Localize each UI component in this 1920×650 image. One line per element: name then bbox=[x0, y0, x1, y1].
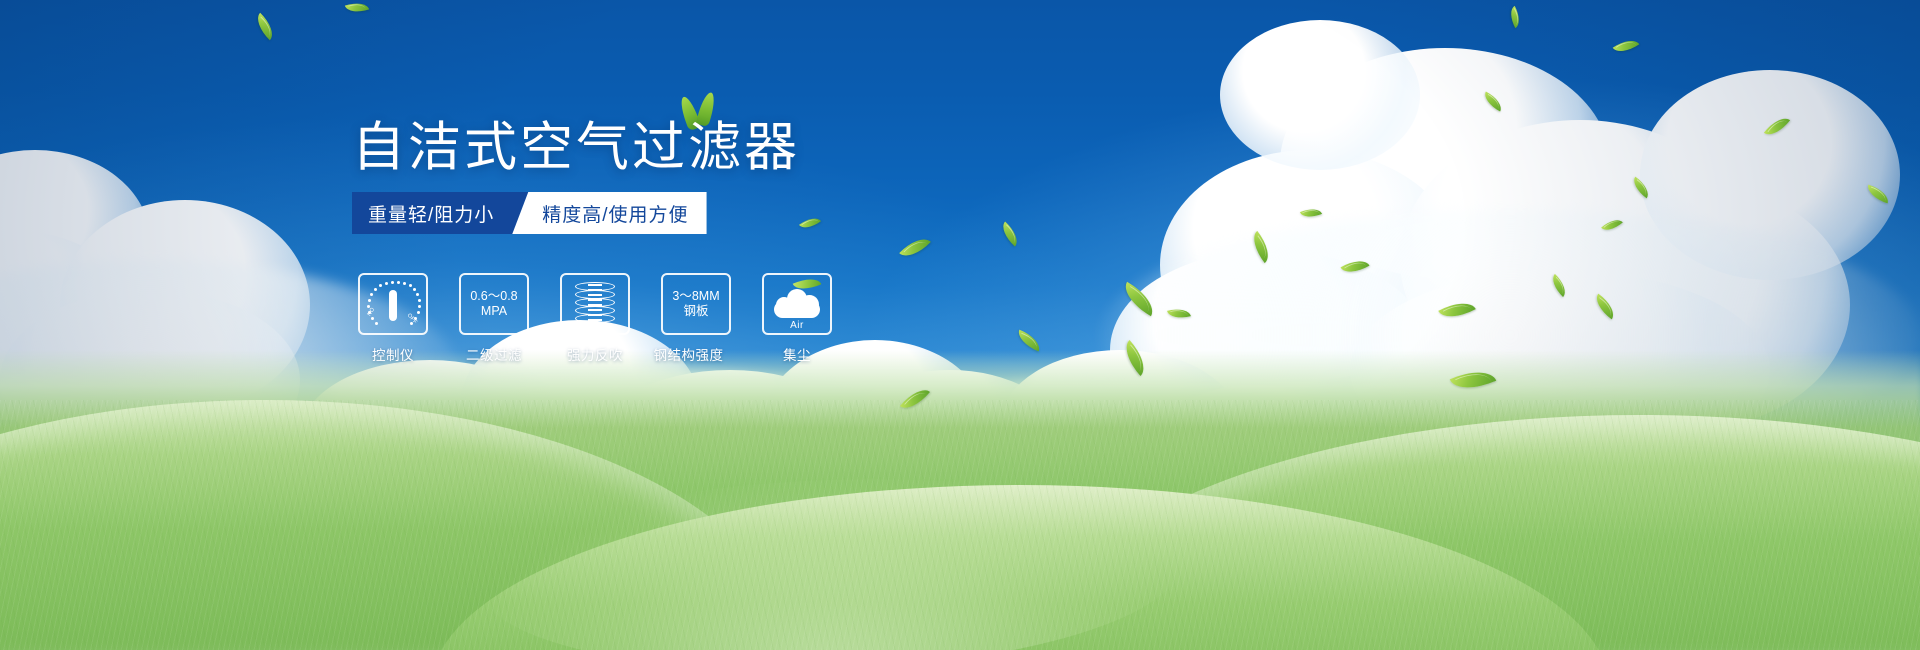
banner-content: 自洁式空气过滤器 重量轻/阻力小 精度高/使用方便 bbox=[0, 0, 1920, 650]
feature-box-dust: Air bbox=[762, 273, 832, 335]
page-title: 自洁式空气过滤器 bbox=[352, 118, 800, 177]
subtitle-pill-secondary: 精度高/使用方便 bbox=[512, 192, 706, 234]
air-cloud-icon: Air bbox=[770, 279, 824, 329]
air-cloud-base bbox=[774, 301, 820, 318]
feature-icon-row: NO OFF 控制仪 0.6～0.8 MPA 二级过滤 bbox=[358, 273, 832, 364]
feature-label-controller: 控制仪 bbox=[372, 344, 414, 364]
feature-item-blowback: 强力反吹 bbox=[560, 273, 630, 364]
coil-icon bbox=[575, 280, 615, 328]
air-cloud-label: Air bbox=[770, 320, 824, 331]
subtitle-pill-row: 重量轻/阻力小 精度高/使用方便 bbox=[352, 192, 707, 234]
feature-box-steel: 3～8MM 钢板 bbox=[661, 273, 731, 335]
subtitle-pill-primary: 重量轻/阻力小 bbox=[352, 192, 528, 234]
feature-label-pressure: 二级过滤 bbox=[466, 344, 522, 364]
gauge-needle bbox=[389, 290, 397, 321]
feature-box-pressure: 0.6～0.8 MPA bbox=[459, 273, 529, 335]
feature-item-dust: Air 集尘 bbox=[762, 273, 832, 364]
gauge-icon: NO OFF bbox=[366, 280, 420, 328]
feature-item-pressure: 0.6～0.8 MPA 二级过滤 bbox=[459, 273, 529, 364]
feature-box-controller: NO OFF bbox=[358, 273, 428, 335]
feature-item-controller: NO OFF 控制仪 bbox=[358, 273, 428, 364]
feature-label-dust: 集尘 bbox=[783, 344, 811, 364]
feature-label-steel: 钢结构强度 bbox=[654, 344, 724, 364]
feature-label-blowback: 强力反吹 bbox=[567, 344, 623, 364]
hero-banner: 自洁式空气过滤器 重量轻/阻力小 精度高/使用方便 bbox=[0, 0, 1920, 650]
pressure-icon: 0.6～0.8 MPA bbox=[470, 289, 517, 320]
gauge-label-no: NO bbox=[367, 307, 377, 318]
feature-item-steel: 3～8MM 钢板 钢结构强度 bbox=[661, 273, 731, 364]
feature-box-blowback bbox=[560, 273, 630, 335]
gauge-label-off: OFF bbox=[406, 313, 418, 326]
steel-icon: 3～8MM 钢板 bbox=[672, 289, 719, 320]
